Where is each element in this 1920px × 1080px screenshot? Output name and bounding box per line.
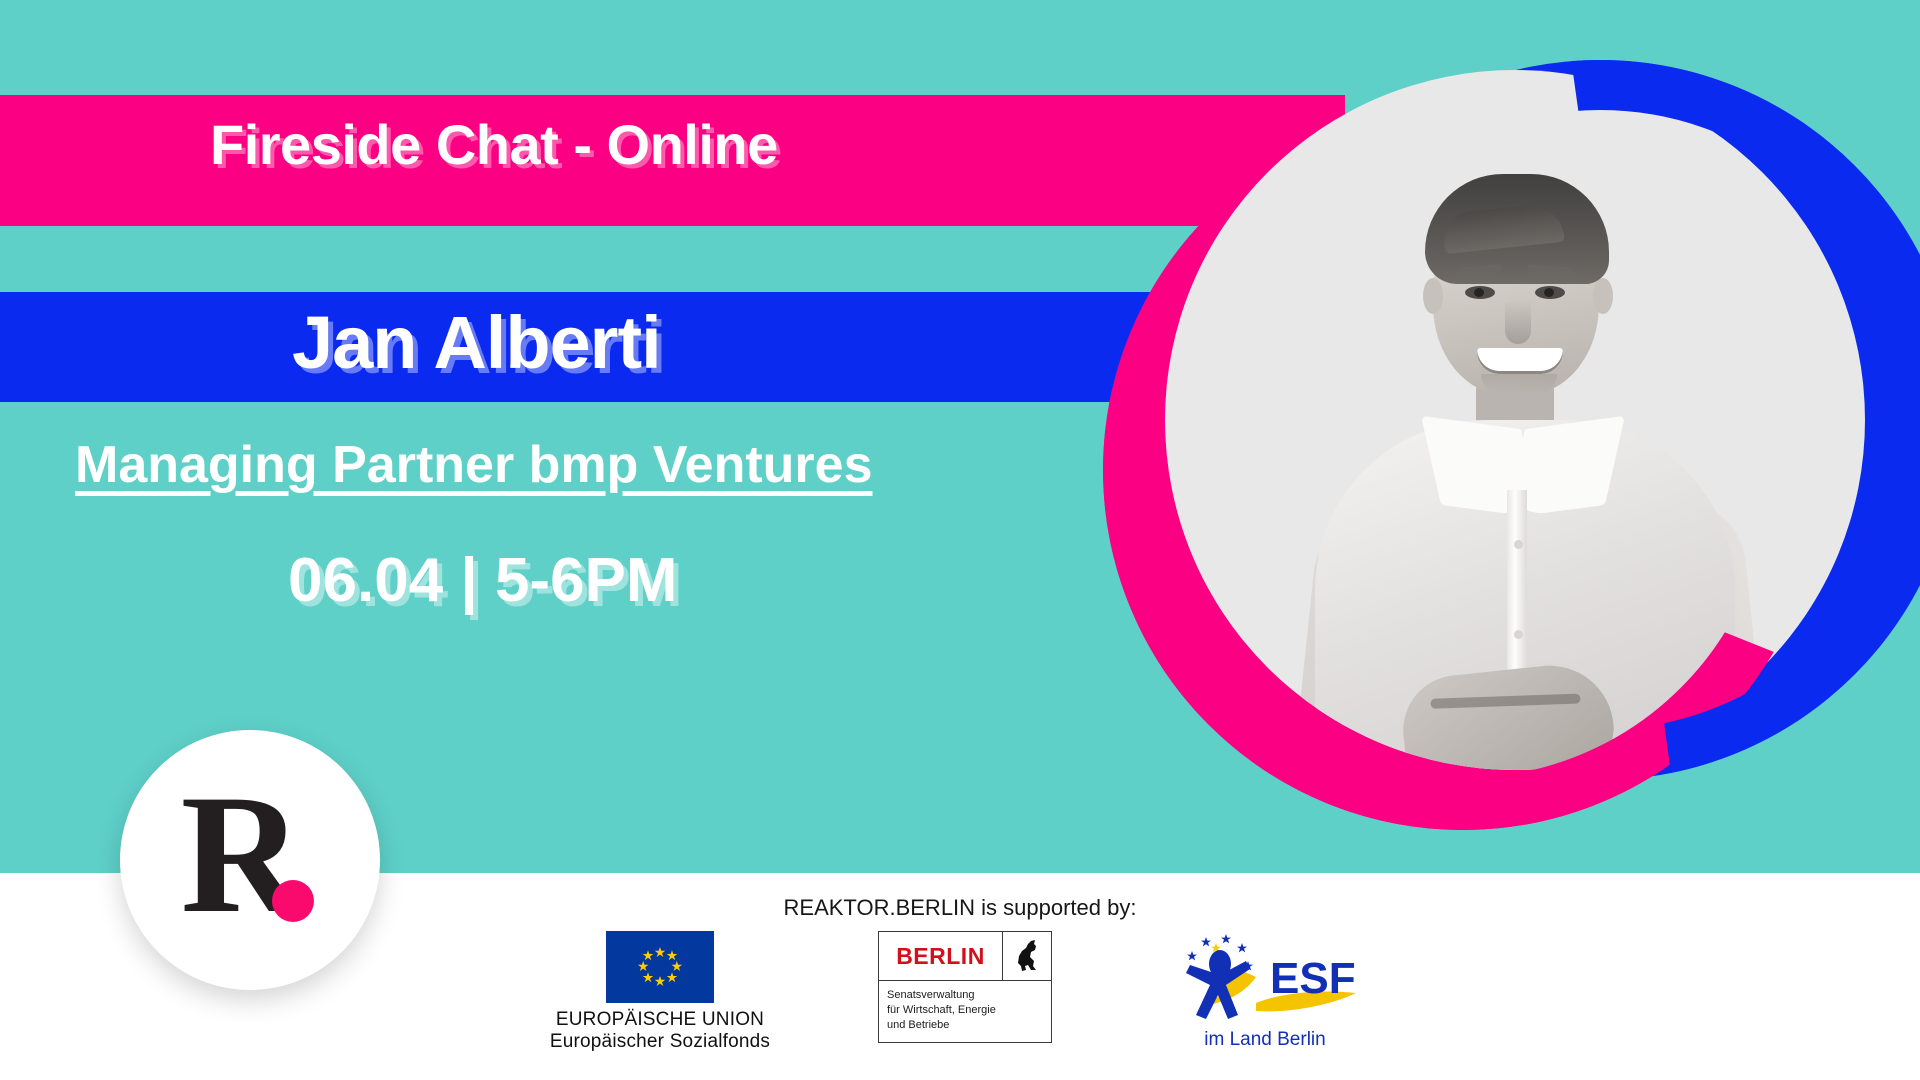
berlin-subtitle: Senatsverwaltung für Wirtschaft, Energie… [879,981,1051,1042]
eu-logo: EUROPÄISCHE UNION Europäischer Sozialfon… [540,931,780,1053]
esf-logo: ESF im Land Berlin [1150,931,1380,1051]
esf-caption: im Land Berlin [1150,1029,1380,1051]
speaker-name: Jan Alberti [292,300,661,385]
eu-caption-line1: EUROPÄISCHE UNION [540,1009,780,1031]
event-datetime: 06.04 | 5-6PM [288,545,678,616]
berlin-logo-top: BERLIN [879,932,1051,981]
esf-figure-icon: ESF [1160,931,1370,1027]
speaker-role: Managing Partner bmp Ventures [75,435,873,495]
reaktor-logo-dot-icon [272,880,314,922]
reaktor-logo[interactable]: R [120,730,380,990]
esf-wordmark: ESF [1270,954,1356,1003]
berlin-wordmark: BERLIN [879,932,1003,980]
eu-flag-icon [606,931,714,1003]
esf-mark-icon: ESF [1160,931,1370,1027]
sponsor-logos: EUROPÄISCHE UNION Europäischer Sozialfon… [540,931,1380,1071]
event-poster: Fireside Chat - Online Jan Alberti Manag… [0,0,1920,1080]
berlin-senate-logo: BERLIN Senatsverwaltung für Wirtschaft, … [878,931,1052,1043]
berlin-subtitle-line3: und Betriebe [887,1018,1043,1033]
berlin-subtitle-line1: Senatsverwaltung [887,988,1043,1003]
eu-caption-line2: Europäischer Sozialfonds [540,1031,780,1053]
berlin-subtitle-line2: für Wirtschaft, Energie [887,1003,1043,1018]
bear-glyph-icon [1014,939,1040,973]
speaker-portrait [1085,55,1885,845]
event-title: Fireside Chat - Online [210,112,778,177]
berlin-bear-icon [1003,932,1051,980]
eu-stars-icon [606,931,714,1003]
